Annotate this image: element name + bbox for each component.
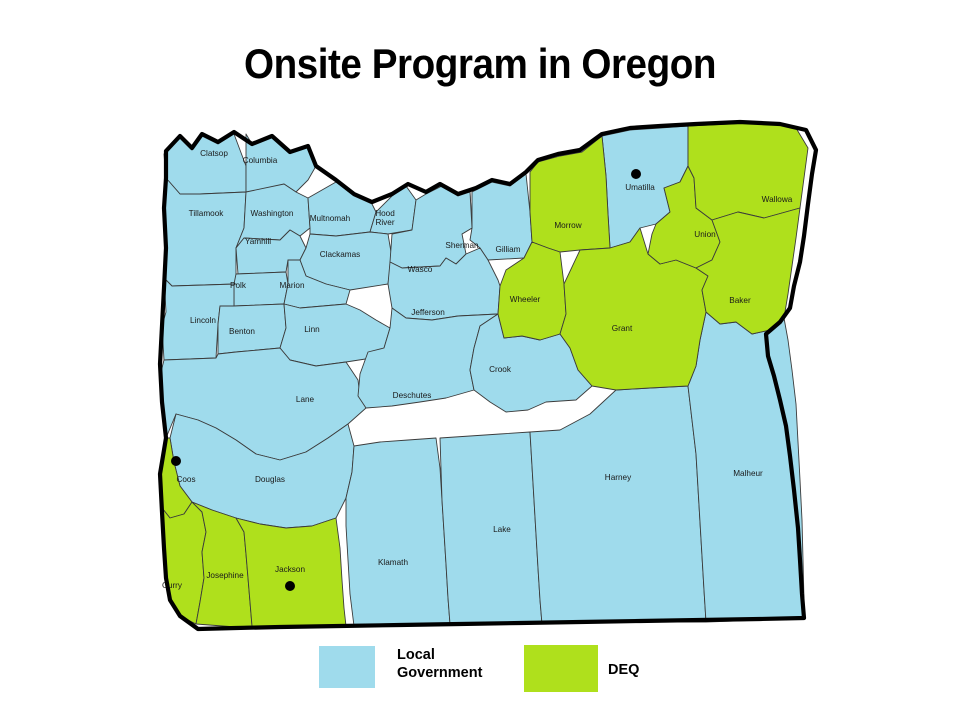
county-label-yamhill: Yamhill: [245, 237, 271, 246]
county-label-josephine: Josephine: [206, 571, 244, 580]
county-malheur[interactable]: [688, 312, 804, 622]
slide-canvas: Onsite Program in Oregon ClatsopColumbia…: [0, 0, 960, 720]
county-label-multnomah: Multnomah: [310, 214, 351, 223]
county-label-washington: Washington: [251, 209, 294, 218]
county-label-klamath: Klamath: [378, 558, 408, 567]
county-lake[interactable]: [440, 432, 542, 624]
county-label-douglas: Douglas: [255, 475, 285, 484]
legend-swatch-local-government: [319, 646, 375, 688]
site-marker-jackson: [285, 581, 295, 591]
county-label-lake: Lake: [493, 525, 511, 534]
county-label-linn: Linn: [304, 325, 320, 334]
county-label-benton: Benton: [229, 327, 255, 336]
site-marker-coos: [171, 456, 181, 466]
county-wallowa[interactable]: [688, 122, 808, 220]
county-harney[interactable]: [530, 386, 706, 624]
page-title: Onsite Program in Oregon: [38, 40, 921, 88]
county-label-grant: Grant: [612, 324, 633, 333]
oregon-county-map[interactable]: ClatsopColumbiaTillamookWashingtonMultno…: [140, 108, 840, 638]
map-legend: Local Government DEQ: [300, 640, 720, 700]
county-label-tillamook: Tillamook: [189, 209, 225, 218]
county-label-polk: Polk: [230, 281, 247, 290]
county-label-umatilla: Umatilla: [625, 183, 655, 192]
county-label-lane: Lane: [296, 395, 315, 404]
county-label-lincoln: Lincoln: [190, 316, 216, 325]
county-label-hood-river: HoodRiver: [375, 209, 395, 227]
county-label-coos: Coos: [176, 475, 195, 484]
site-marker-umatilla: [631, 169, 641, 179]
county-label-union: Union: [694, 230, 716, 239]
county-label-wallowa: Wallowa: [762, 195, 793, 204]
county-label-crook: Crook: [489, 365, 512, 374]
county-label-wheeler: Wheeler: [510, 295, 541, 304]
county-label-jackson: Jackson: [275, 565, 305, 574]
county-label-clackamas: Clackamas: [320, 250, 361, 259]
county-label-columbia: Columbia: [243, 156, 278, 165]
counties-group: [160, 122, 808, 627]
county-label-sherman: Sherman: [445, 241, 479, 250]
county-label-baker: Baker: [729, 296, 751, 305]
county-label-jefferson: Jefferson: [411, 308, 445, 317]
county-label-clatsop: Clatsop: [200, 149, 228, 158]
oregon-map-container[interactable]: ClatsopColumbiaTillamookWashingtonMultno…: [140, 108, 840, 638]
county-label-gilliam: Gilliam: [495, 245, 520, 254]
county-label-morrow: Morrow: [554, 221, 581, 230]
county-label-wasco: Wasco: [408, 265, 433, 274]
county-tillamook[interactable]: [164, 178, 246, 286]
county-label-marion: Marion: [279, 281, 304, 290]
county-multnomah[interactable]: [308, 182, 376, 236]
county-label-harney: Harney: [605, 473, 632, 482]
legend-label-local-government: Local Government: [397, 646, 517, 682]
legend-label-deq: DEQ: [608, 661, 708, 679]
county-label-malheur: Malheur: [733, 469, 763, 478]
legend-swatch-deq: [524, 645, 598, 692]
county-label-deschutes: Deschutes: [393, 391, 432, 400]
county-klamath[interactable]: [346, 438, 450, 626]
